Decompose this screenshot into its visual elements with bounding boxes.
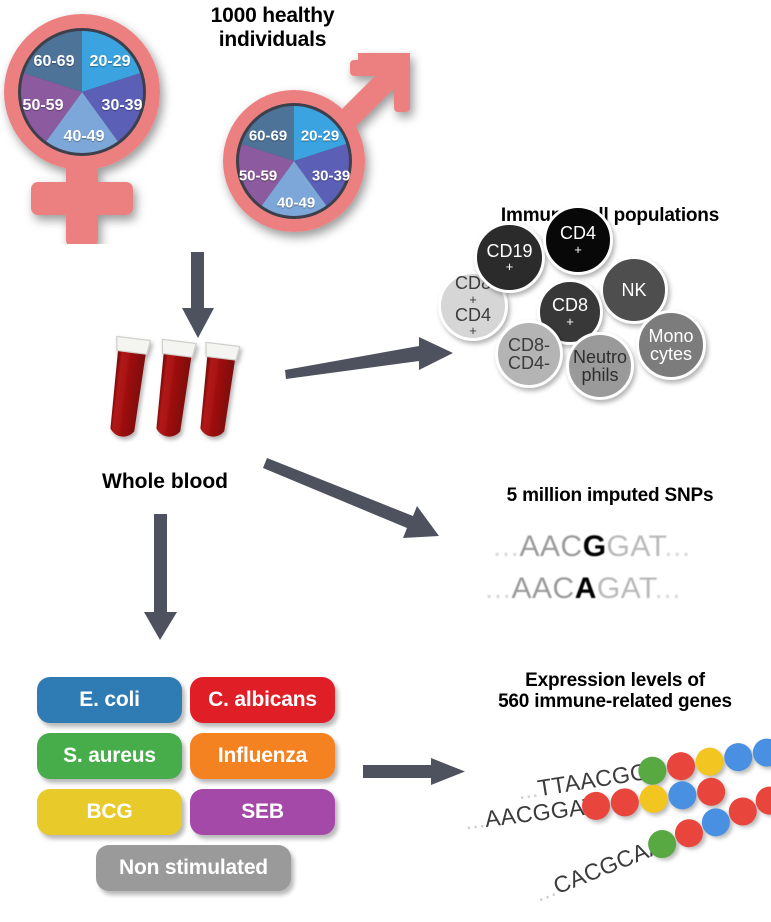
snp-left-g: AAC [520,530,583,563]
male-pie-label-50-59: 50-59 [239,168,277,185]
arrow-blood-to-immune-cells [283,326,458,386]
male-pie-label-20-29: 20-29 [301,128,339,145]
stimulation-seb[interactable]: SEB [190,789,335,835]
female-gender-symbol: 20-29 30-39 40-49 50-59 60-69 [0,4,200,244]
snp-prefix-a: ... [485,572,512,605]
female-pie-label-50-59: 50-59 [23,97,64,115]
immune-cell-cd8: CD8+ [537,279,603,345]
stimulation-non-stimulated[interactable]: Non stimulated [96,845,291,891]
snp-suffix-a: ... [655,572,682,605]
immune-cell-neutrophils: Neutrophils [566,332,634,400]
female-pie-label-40-49: 40-49 [64,128,105,146]
expression-strand-3-sequence: ...CACGCAA [531,832,667,908]
cohort-title-line1: 1000 healthy [170,4,375,28]
female-pie-label-30-39: 30-39 [102,97,143,115]
snps-title: 5 million imputed SNPs [460,485,760,506]
female-pie-label-20-29: 20-29 [90,53,131,71]
stimulation-label-e-coli: E. coli [79,688,139,712]
arrow-cohort-to-blood [168,252,228,340]
male-pie-label-30-39: 30-39 [312,168,350,185]
stimulation-c-albicans[interactable]: C. albicans [190,677,335,723]
snp-prefix-g: ... [493,530,520,563]
whole-blood-tubes [90,330,270,470]
strand-2-bead-3 [638,783,669,814]
stimulation-label-s-aureus: S. aureus [63,744,156,768]
female-pie-label-60-69: 60-69 [34,53,75,71]
strand-2-bead-4 [667,780,698,811]
snp-variant-g: G [583,530,607,563]
expression-title-line1: Expression levels of [460,670,770,691]
snp-sequence-row-a: ...AACAGAT... [485,572,681,606]
snp-sequence-row-g: ...AACGGAT... [493,530,691,564]
snp-suffix-g: ... [664,530,691,563]
expression-title-line2: 560 immune-related genes [460,691,770,712]
strand-2-bases: AACGGAT [483,792,598,832]
stimulation-label-c-albicans: C. albicans [208,688,317,712]
immune-cell-monocytes: Monocytes [636,310,706,380]
arrow-stimulations-to-expression [363,752,473,792]
male-gender-symbol: 20-29 30-39 40-49 50-59 60-69 [198,48,428,248]
female-symbol-shape [0,4,200,244]
arrow-blood-to-snps [263,444,463,554]
stimulation-label-bcg: BCG [86,800,132,824]
strand-1-bead-4 [722,741,754,773]
stimulation-influenza[interactable]: Influenza [190,733,335,779]
immune-cell-cd8-cd4-neg: CD8-CD4- [495,320,563,388]
immune-cell-nk: NK [600,256,668,324]
expression-title: Expression levels of 560 immune-related … [460,670,770,713]
male-symbol-shape [198,48,428,248]
blood-tube-3 [195,342,240,438]
snp-right-g: GAT [607,530,665,563]
snp-variant-a: A [575,572,597,605]
male-pie-label-60-69: 60-69 [249,128,287,145]
stimulation-e-coli[interactable]: E. coli [37,677,182,723]
snp-right-a: GAT [597,572,655,605]
expression-strand-2-sequence: ...AACGGAT [463,792,598,835]
arrow-blood-to-stimulations [136,514,196,642]
cohort-title: 1000 healthy individuals [170,4,375,51]
male-pie-label-40-49: 40-49 [277,195,315,212]
immune-cell-cd19: CD19+ [474,222,545,293]
snp-left-a: AAC [512,572,575,605]
immune-cell-populations-title: Immune cell populations [455,205,765,226]
stimulation-bcg[interactable]: BCG [37,789,182,835]
stimulation-label-non-stimulated: Non stimulated [119,856,268,880]
stimulation-label-influenza: Influenza [218,744,307,768]
blood-tube-2 [151,339,196,438]
strand-1-bead-3 [694,746,726,778]
blood-tube-1 [105,336,151,438]
stimulation-label-seb: SEB [241,800,284,824]
stimulation-s-aureus[interactable]: S. aureus [37,733,182,779]
strand-2-bead-2 [609,787,640,818]
whole-blood-label: Whole blood [70,470,260,494]
study-design-figure: 1000 healthy individuals [0,0,771,922]
strand-1-bead-5 [751,737,771,769]
